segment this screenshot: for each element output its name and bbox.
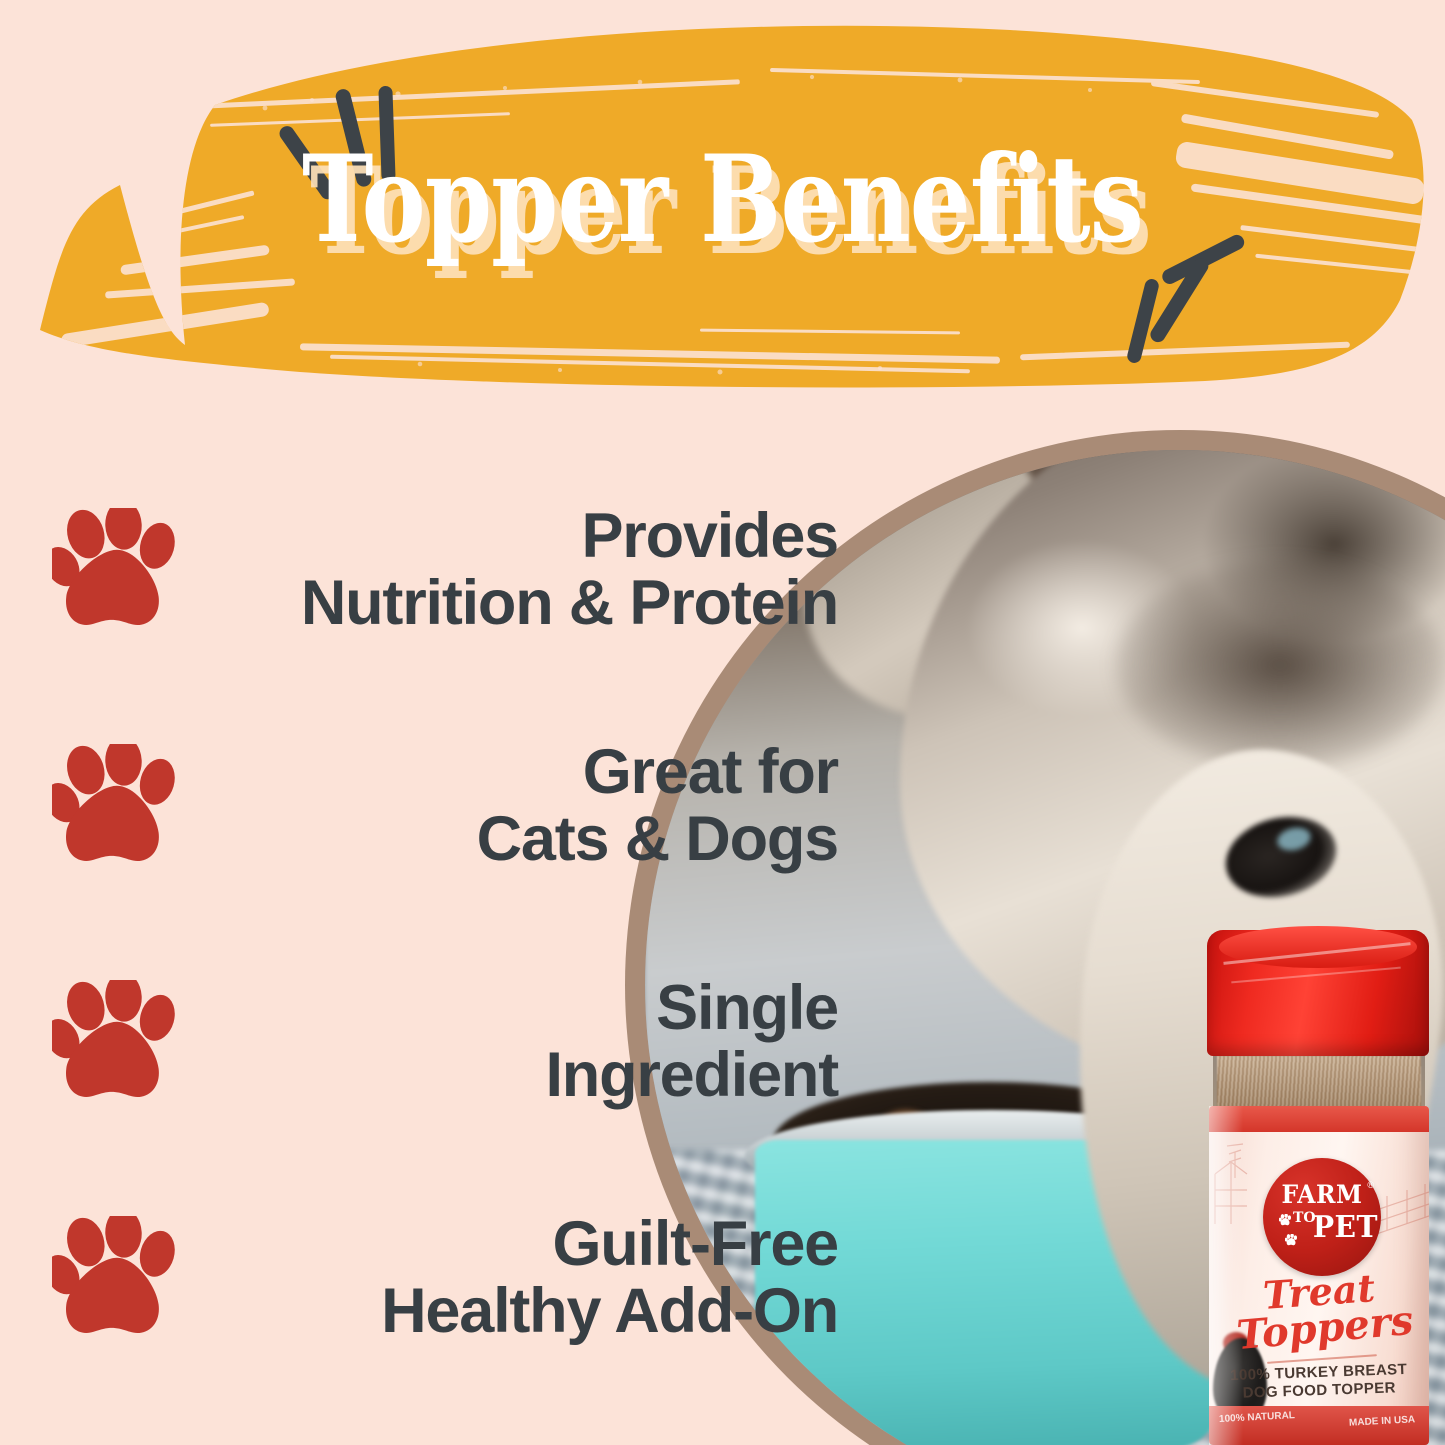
bottle-highlight — [1209, 1106, 1243, 1445]
benefit-item-nutrition-protein: Provides Nutrition & Protein — [0, 452, 880, 688]
paw-print-icon — [52, 744, 182, 869]
benefit-item-single-ingredient: Single Ingredient — [0, 924, 880, 1160]
bottle-powder-contents — [1217, 1056, 1421, 1110]
header-banner: Topper Benefits — [0, 0, 1445, 400]
paw-print-icon — [1279, 1214, 1292, 1226]
benefits-list: Provides Nutrition & Protein Great for C… — [0, 452, 880, 1396]
paw-print-icon — [52, 1216, 182, 1341]
registered-trademark-icon: ® — [1367, 1180, 1374, 1190]
benefit-label: Provides Nutrition & Protein — [182, 503, 880, 637]
benefit-label: Great for Cats & Dogs — [182, 739, 880, 873]
benefit-label: Single Ingredient — [182, 975, 880, 1109]
benefit-label: Guilt-Free Healthy Add-On — [182, 1211, 880, 1345]
logo-brand-farm: FARM — [1267, 1180, 1378, 1209]
paw-print-icon — [52, 980, 182, 1105]
logo-brand-pet: PET — [1313, 1210, 1371, 1245]
infographic-canvas: Topper Benefits — [0, 0, 1445, 1445]
benefit-item-cats-dogs: Great for Cats & Dogs — [0, 688, 880, 924]
paw-print-icon — [1285, 1234, 1298, 1246]
brand-logo: FARM ® TO PET — [1263, 1158, 1381, 1276]
dog-brow-marking — [1115, 560, 1445, 770]
page-title: Topper Benefits — [145, 140, 1301, 260]
paw-print-icon — [52, 508, 182, 633]
benefit-item-guilt-free: Guilt-Free Healthy Add-On — [0, 1160, 880, 1396]
product-bottle: FARM ® TO PET — [1193, 930, 1445, 1445]
